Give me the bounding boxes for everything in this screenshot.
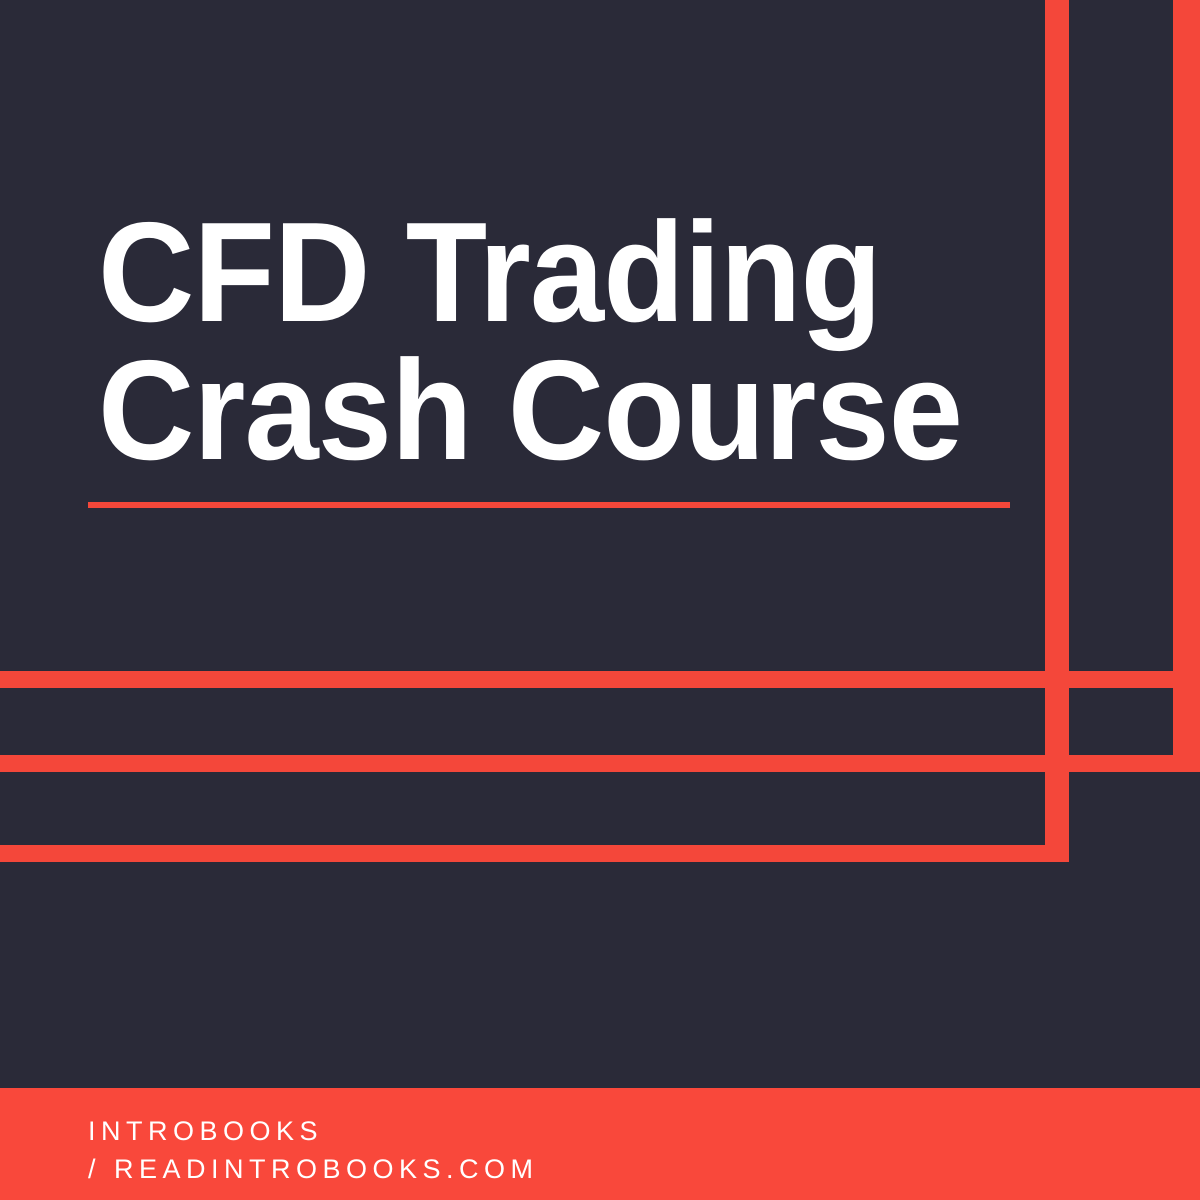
horizontal-rule-bottom — [0, 845, 1069, 862]
horizontal-rule-top — [0, 671, 1195, 688]
horizontal-rule-mid — [0, 755, 1195, 772]
book-cover: CFD Trading Crash Course INTROBOOKS / RE… — [0, 0, 1200, 1200]
cover-title: CFD Trading Crash Course — [98, 212, 1058, 472]
vertical-rule-inner — [1045, 0, 1069, 862]
publisher-credit: INTROBOOKS / READINTROBOOKS.COM — [88, 1112, 539, 1189]
title-line-1: CFD Trading — [98, 212, 1000, 334]
footer-band: INTROBOOKS / READINTROBOOKS.COM — [0, 1088, 1200, 1200]
publisher-name: INTROBOOKS — [88, 1112, 539, 1150]
title-line-2: Crash Course — [98, 350, 1000, 472]
publisher-website: / READINTROBOOKS.COM — [88, 1150, 539, 1188]
title-underline-rule — [88, 502, 1010, 508]
vertical-rule-outer — [1173, 0, 1200, 772]
